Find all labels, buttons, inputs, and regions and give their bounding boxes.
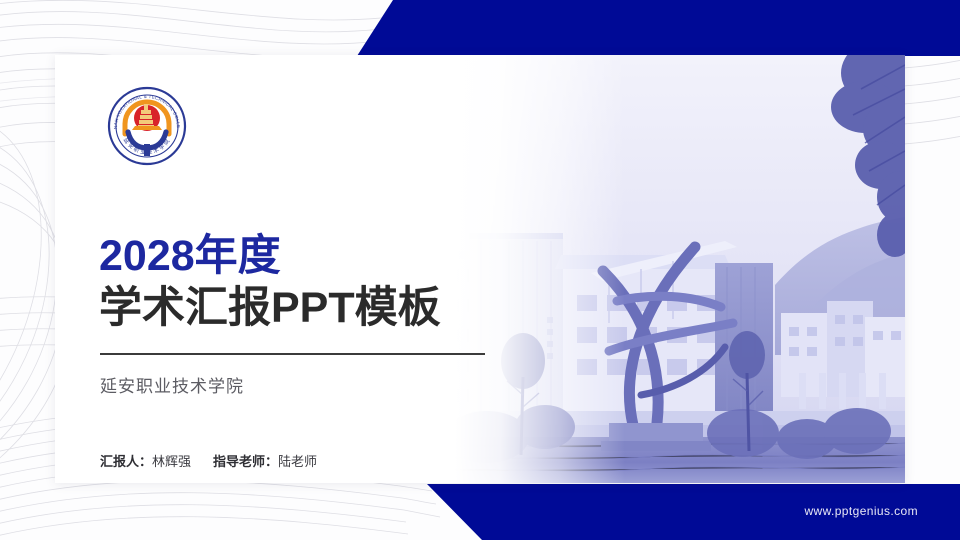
title-divider	[100, 353, 485, 355]
school-name: 延安职业技术学院	[100, 372, 244, 397]
content-card: YANAN VOCATIONAL & TECHNICAL COLLEGE 延安职…	[55, 55, 905, 483]
title-block: YANAN VOCATIONAL & TECHNICAL COLLEGE 延安职…	[55, 55, 525, 483]
college-logo: YANAN VOCATIONAL & TECHNICAL COLLEGE 延安职…	[95, 80, 200, 168]
presenter-label: 汇报人：	[100, 454, 152, 469]
presentation-slide: YANAN VOCATIONAL & TECHNICAL COLLEGE 延安职…	[0, 0, 960, 540]
footer-website-url[interactable]: www.pptgenius.com	[804, 504, 918, 518]
main-title: 学术汇报PPT模板	[99, 287, 441, 330]
presenter-name: 林辉强	[152, 454, 191, 469]
advisor-label: 指导老师：	[213, 454, 278, 469]
year-title: 2028年度	[99, 235, 281, 278]
presenter-info: 汇报人：林辉强指导老师：陆老师	[100, 451, 317, 470]
advisor-name: 陆老师	[278, 454, 317, 469]
